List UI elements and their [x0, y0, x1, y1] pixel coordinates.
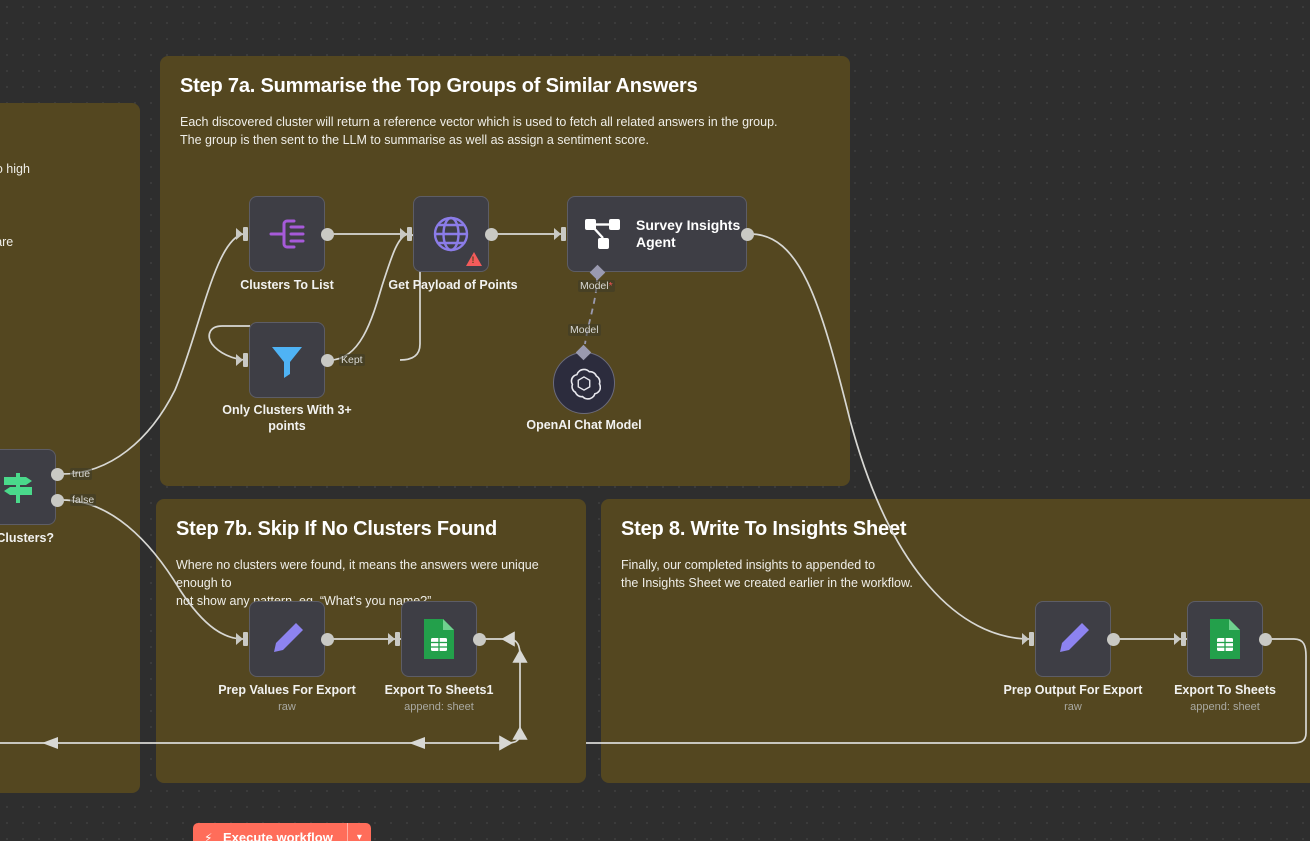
node-get-payload[interactable]	[413, 196, 489, 272]
sticky-title: Step 8. Write To Insights Sheet	[621, 517, 1301, 542]
sticky-body: ation is usually too high hat we want to…	[0, 160, 120, 251]
split-out-icon	[267, 214, 307, 254]
port-out-survey-agent[interactable]	[741, 228, 754, 241]
port-out-export-sheets1[interactable]	[473, 633, 486, 646]
agent-hierarchy-icon	[584, 217, 622, 251]
port-if-true[interactable]	[51, 468, 64, 481]
node-if-clusters[interactable]	[0, 449, 56, 525]
port-out-prep-values[interactable]	[321, 633, 334, 646]
port-out-prep-output[interactable]	[1107, 633, 1120, 646]
warning-triangle-icon	[466, 252, 482, 266]
port-out-export-sheets[interactable]	[1259, 633, 1272, 646]
port-out-clusters-to-list[interactable]	[321, 228, 334, 241]
sticky-note-step-7b[interactable]: Step 7b. Skip If No Clusters Found Where…	[156, 499, 586, 783]
sticky-note-partial-left[interactable]: n ation is usually too high hat we want …	[0, 103, 140, 793]
port-out-get-payload[interactable]	[485, 228, 498, 241]
switch-signpost-icon	[0, 467, 38, 507]
filter-icon	[267, 340, 307, 380]
node-prep-values-for-export[interactable]	[249, 601, 325, 677]
sticky-body: Each discovered cluster will return a re…	[180, 113, 830, 149]
node-prep-output-for-export[interactable]	[1035, 601, 1111, 677]
workflow-canvas[interactable]: n ation is usually too high hat we want …	[0, 0, 1310, 841]
sticky-body: Where no clusters were found, it means t…	[176, 556, 566, 610]
openai-icon	[567, 366, 601, 400]
node-survey-insights-agent[interactable]: Survey Insights Agent	[567, 196, 747, 272]
node-label-survey-agent: Survey Insights Agent	[636, 217, 740, 251]
node-openai-chat-model[interactable]	[553, 352, 615, 414]
lightning-bolt-icon: ⚡	[204, 831, 212, 841]
node-only-clusters[interactable]	[249, 322, 325, 398]
google-sheets-icon	[1206, 617, 1244, 661]
chevron-down-icon[interactable]: ▾	[348, 825, 371, 841]
execute-workflow-button[interactable]: ⚡ Execute workflow ▾	[193, 823, 371, 841]
sticky-body: Finally, our completed insights to appen…	[621, 556, 1301, 592]
globe-http-icon	[429, 212, 473, 256]
edit-pencil-icon	[1053, 619, 1093, 659]
node-export-to-sheets1[interactable]	[401, 601, 477, 677]
edit-pencil-icon	[267, 619, 307, 659]
node-clusters-to-list[interactable]	[249, 196, 325, 272]
google-sheets-icon	[420, 617, 458, 661]
execute-workflow-label: Execute workflow	[223, 830, 333, 841]
sticky-title: Step 7a. Summarise the Top Groups of Sim…	[180, 74, 830, 99]
port-out-only-clusters-kept[interactable]	[321, 354, 334, 367]
sticky-title: Step 7b. Skip If No Clusters Found	[176, 517, 566, 542]
port-if-false[interactable]	[51, 494, 64, 507]
sticky-title: n	[0, 121, 120, 146]
node-export-to-sheets[interactable]	[1187, 601, 1263, 677]
